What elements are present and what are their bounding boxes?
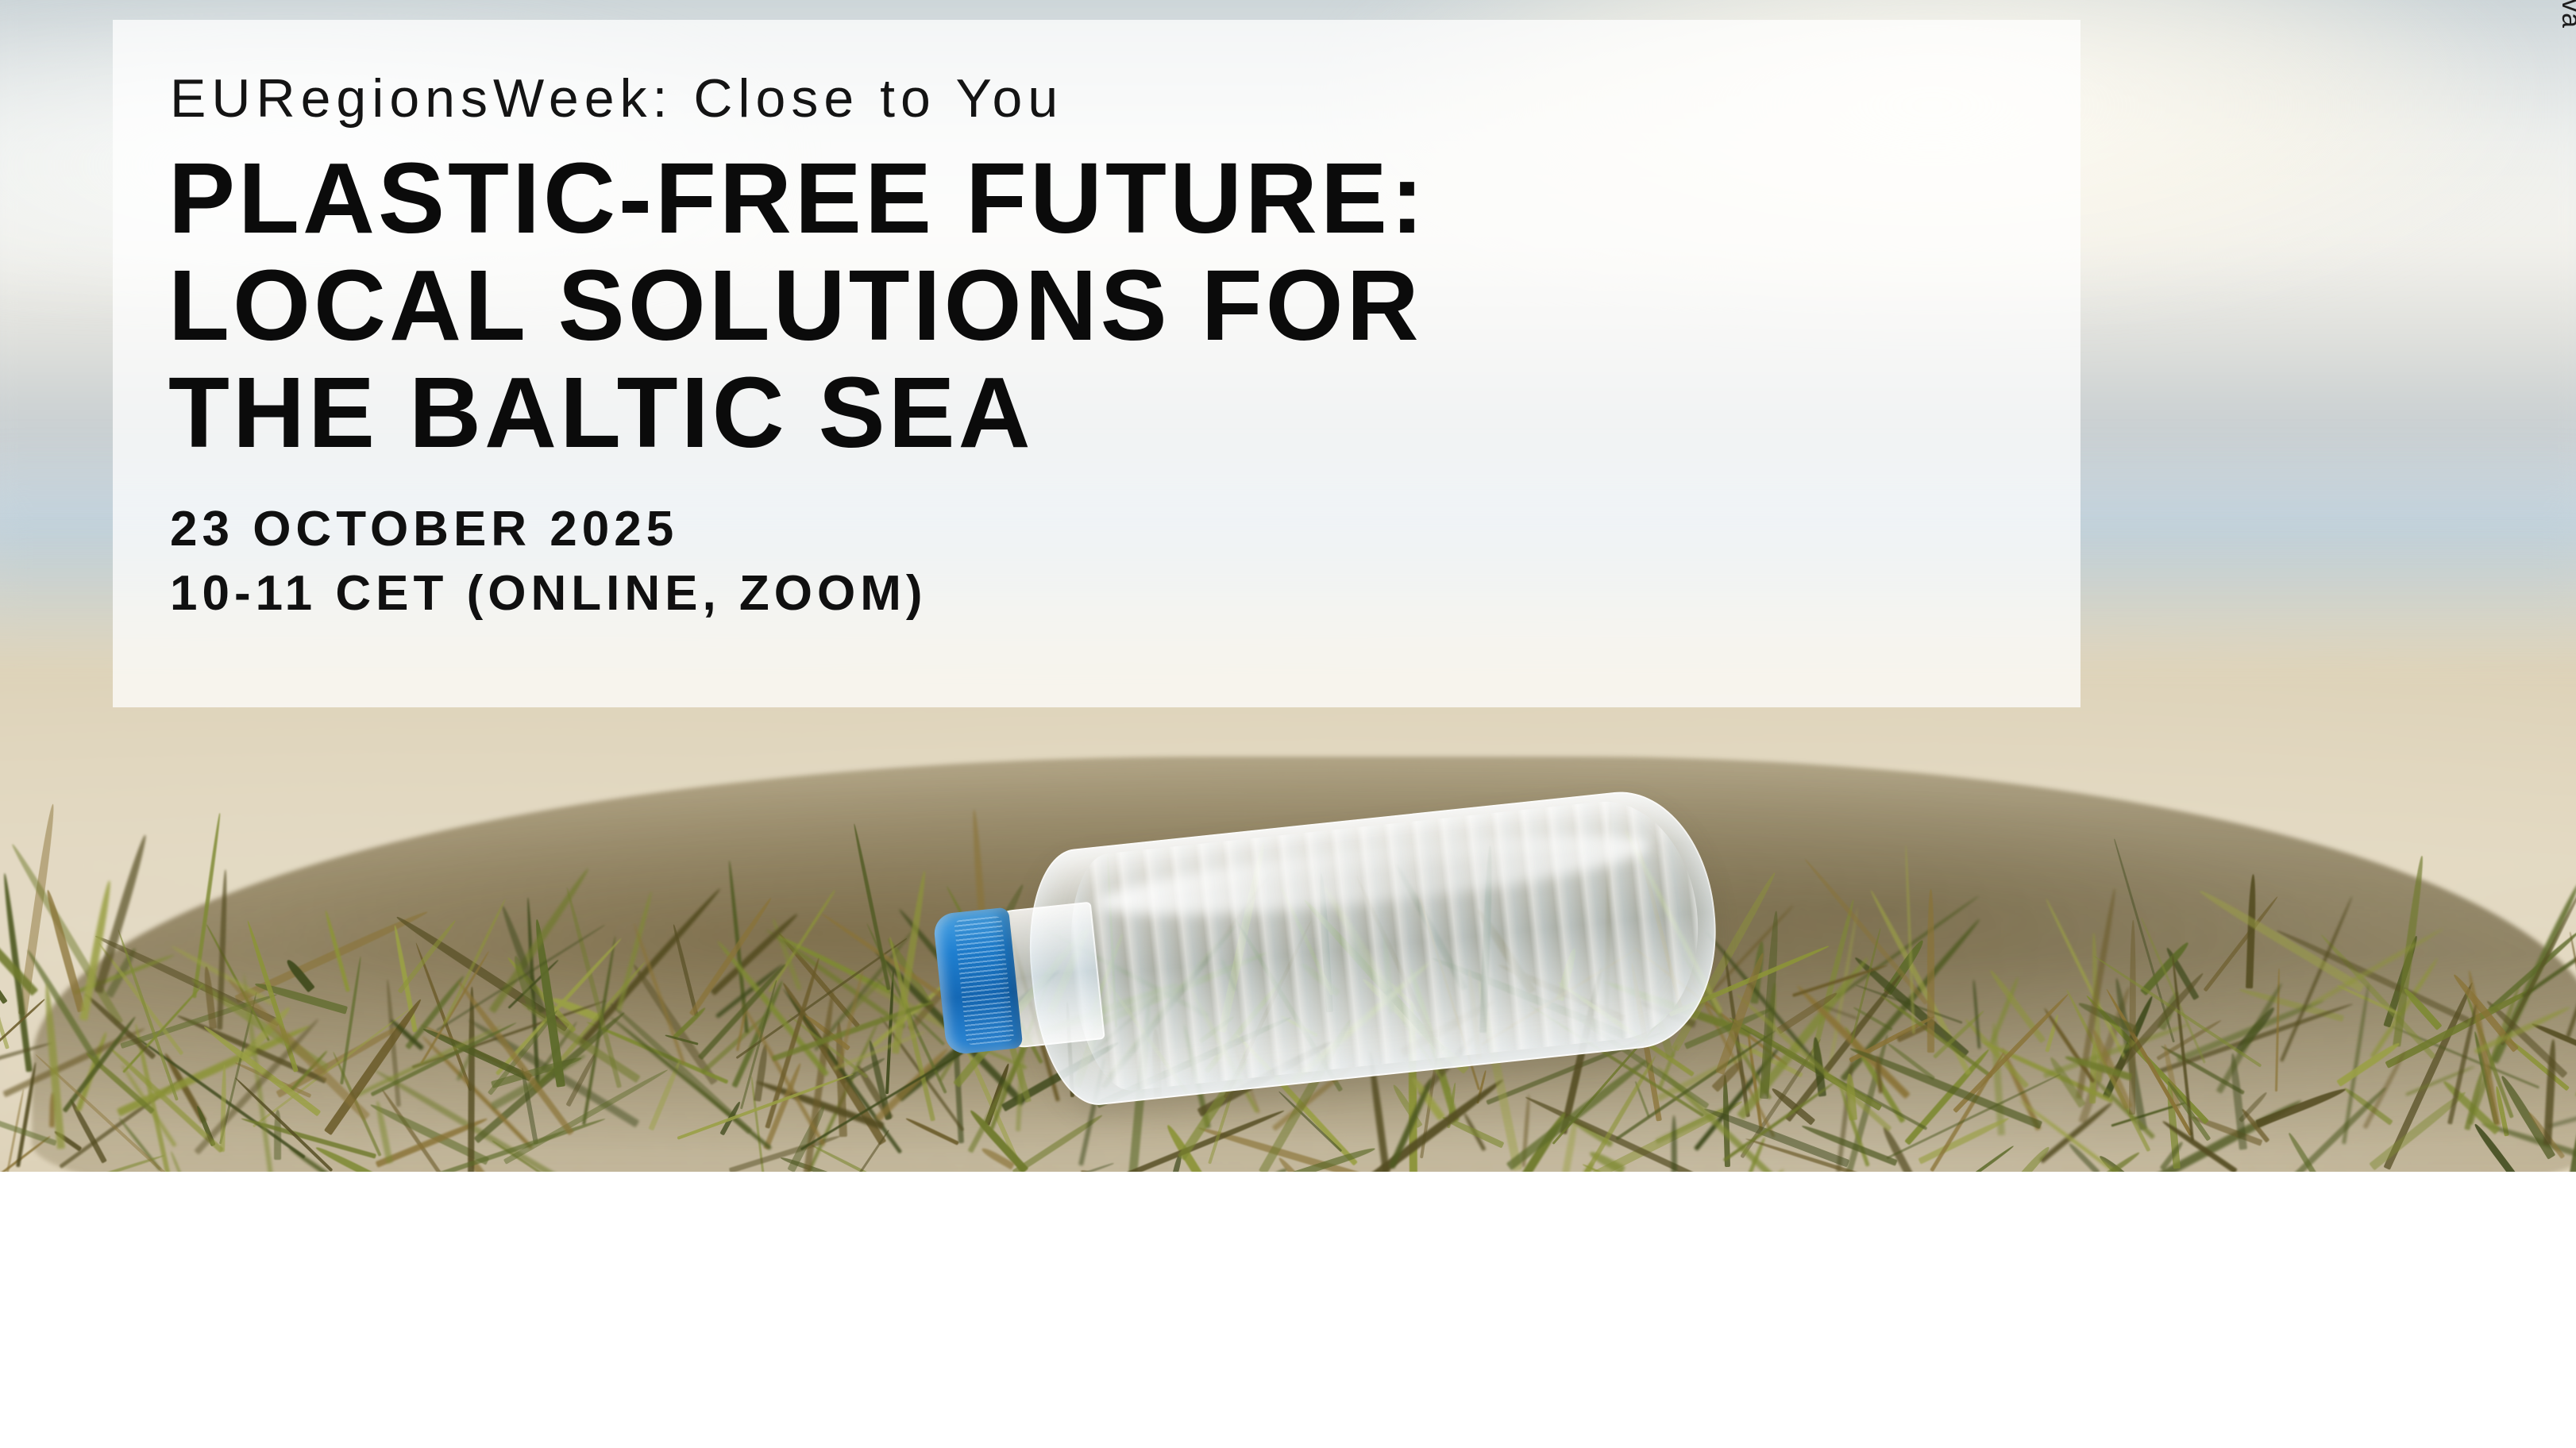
title-panel: EURegionsWeek: Close to You PLASTIC-FREE… [113,20,2080,707]
event-time: 10-11 CET (ONLINE, ZOOM) [170,561,2030,626]
logo-bar: Interreg Interreg Baltic Sea Region ★★★★… [0,1172,2576,1448]
event-date: 23 OCTOBER 2025 [170,497,2030,562]
headline-line-1: PLASTIC-FREE FUTURE: [168,145,2030,252]
seaweed-blade [1927,889,1934,1053]
photo-credit: Credit: Maria Kray on Canva [2555,0,2576,29]
event-poster: EURegionsWeek: Close to You PLASTIC-FREE… [0,0,2576,1448]
beach-photo: EURegionsWeek: Close to You PLASTIC-FREE… [0,0,2576,1172]
bottle-cap [932,907,1023,1056]
headline-line-3: THE BALTIC SEA [168,360,2030,467]
page-title: PLASTIC-FREE FUTURE: LOCAL SOLUTIONS FOR… [168,145,2030,466]
eyebrow-text: EURegionsWeek: Close to You [170,67,2030,129]
headline-line-2: LOCAL SOLUTIONS FOR [168,252,2030,360]
event-meta: 23 OCTOBER 2025 10-11 CET (ONLINE, ZOOM) [170,497,2030,627]
